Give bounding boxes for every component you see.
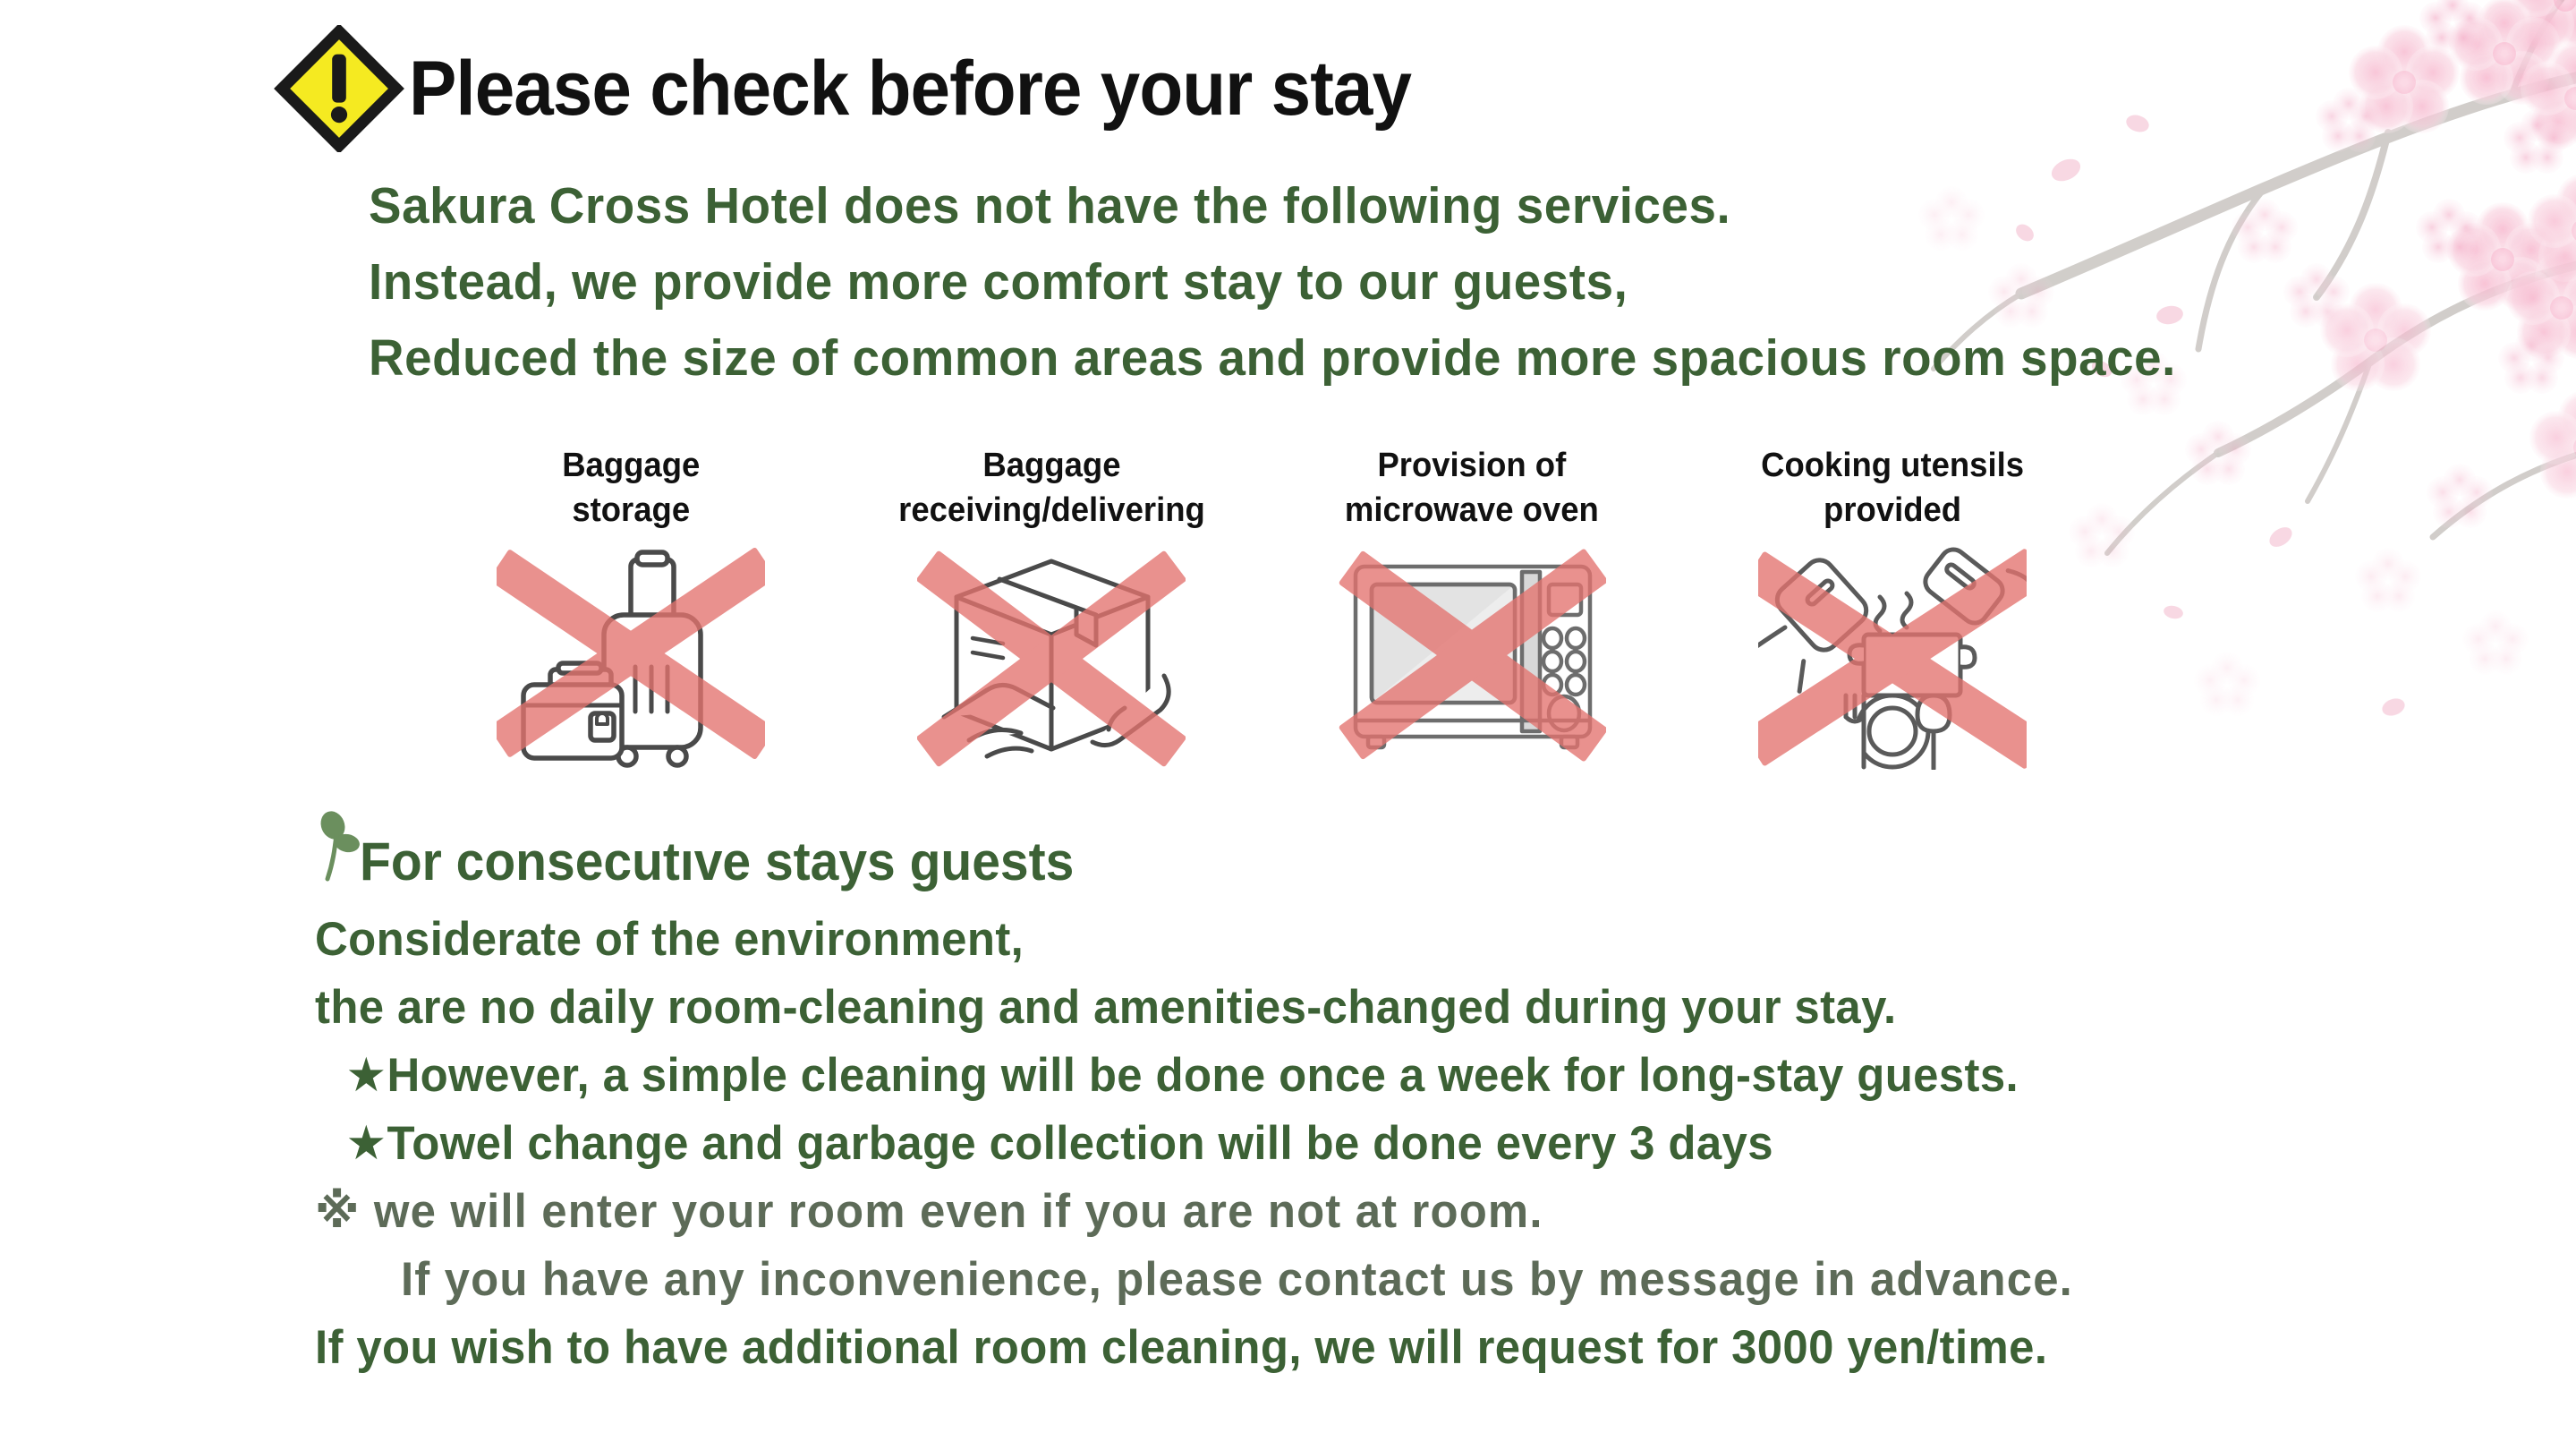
unavailable-services-row: Baggage storage xyxy=(421,443,2103,770)
caption-line-1: Cooking utensils xyxy=(1761,443,2024,488)
consecutive-line-2: the are no daily room-cleaning and ameni… xyxy=(315,974,2073,1042)
icon-art xyxy=(497,542,765,770)
page-header: Please check before your stay xyxy=(273,25,1486,152)
icon-art xyxy=(1338,542,1606,770)
warning-triangle-icon xyxy=(273,25,405,152)
consecutive-closing: If you wish to have additional room clea… xyxy=(315,1314,2073,1382)
icon-art xyxy=(1758,542,2027,770)
service-item-baggage-storage: Baggage storage xyxy=(421,443,841,770)
service-item-microwave-oven: Provision of microwave oven xyxy=(1262,443,1682,770)
section-heading: For consecutıve stays guests xyxy=(315,811,2147,890)
caption-line-2: receiving/delivering xyxy=(898,488,1205,533)
intro-line-1: Sakura Cross Hotel does not have the fol… xyxy=(369,168,2176,244)
page-title: Please check before your stay xyxy=(409,45,1411,133)
caption-line-1: Baggage xyxy=(562,443,700,488)
caption-line-2: provided xyxy=(1761,488,2024,533)
icon-art xyxy=(917,542,1186,770)
intro-paragraph: Sakura Cross Hotel does not have the fol… xyxy=(369,168,2251,397)
poster-root: Please check before your stay Sakura Cro… xyxy=(0,0,2576,1450)
consecutive-body: Considerate of the environment, the are … xyxy=(315,906,2147,1382)
consecutive-note-2: If you have any inconvenience, please co… xyxy=(315,1246,2073,1314)
intro-line-3: Reduced the size of common areas and pro… xyxy=(369,320,2176,397)
intro-line-2: Instead, we provide more comfort stay to… xyxy=(369,244,2176,320)
service-caption: Baggage receiving/delivering xyxy=(898,443,1205,533)
service-caption: Provision of microwave oven xyxy=(1345,443,1599,533)
service-item-cooking-utensils: Cooking utensils provided xyxy=(1682,443,2103,770)
caption-line-2: microwave oven xyxy=(1345,488,1599,533)
sprout-leaf-icon xyxy=(315,811,365,886)
service-caption: Baggage storage xyxy=(562,443,700,533)
service-caption: Cooking utensils provided xyxy=(1761,443,2024,533)
caption-line-1: Baggage xyxy=(898,443,1205,488)
consecutive-title: For consecutıve stays guests xyxy=(360,834,1074,890)
consecutive-line-1: Considerate of the environment, xyxy=(315,906,2073,974)
consecutive-bullet-1: ★However, a simple cleaning will be done… xyxy=(315,1042,2073,1110)
consecutive-stays-section: For consecutıve stays guests Considerate… xyxy=(315,811,2147,1382)
service-item-baggage-receiving-delivering: Baggage receiving/delivering xyxy=(841,443,1262,770)
caption-line-1: Provision of xyxy=(1345,443,1599,488)
caption-line-2: storage xyxy=(562,488,700,533)
consecutive-bullet-2: ★Towel change and garbage collection wil… xyxy=(315,1110,2073,1178)
consecutive-note-1: ※ we will enter your room even if you ar… xyxy=(315,1178,2073,1246)
